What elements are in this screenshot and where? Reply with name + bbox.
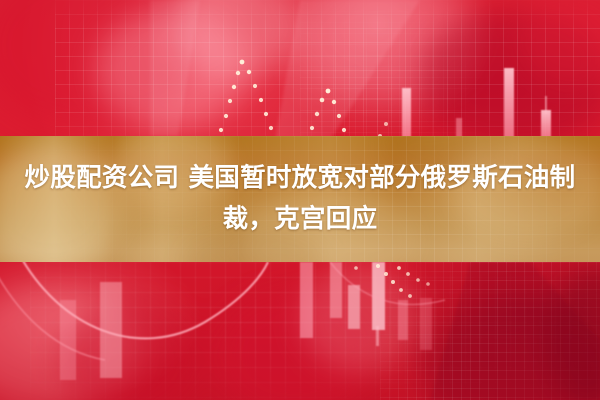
headline-line-1: 炒股配资公司 美国暂时放宽对部分俄罗斯石油制 — [25, 158, 576, 199]
candlestick-bars-lower — [60, 262, 432, 380]
candlestick-bars-upper — [402, 68, 551, 140]
page-title: 炒股配资公司 美国暂时放宽对部分俄罗斯石油制 裁，克宫回应 — [0, 136, 600, 262]
news-banner: 炒股配资公司 美国暂时放宽对部分俄罗斯石油制 裁，克宫回应 — [0, 0, 600, 400]
headline-line-2: 裁，克宫回应 — [223, 199, 378, 240]
